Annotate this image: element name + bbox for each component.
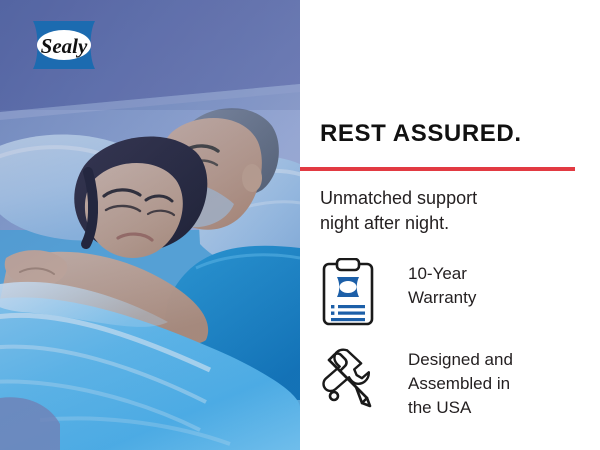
sealy-ad-banner: Sealy REST ASSURED. Unmatched support ni…	[0, 0, 600, 450]
bedroom-photo: Sealy	[0, 0, 300, 450]
feature-warranty-text: 10-Year Warranty	[408, 258, 476, 310]
feature-warranty-line-1: 10-Year	[408, 262, 476, 286]
clipboard-warranty-icon	[320, 258, 382, 328]
subcopy: Unmatched support night after night.	[320, 186, 580, 236]
red-divider-rule	[300, 167, 575, 171]
feature-usa-line-2: Assembled in	[408, 372, 513, 396]
headline: REST ASSURED.	[320, 122, 522, 146]
feature-warranty-line-2: Warranty	[408, 286, 476, 310]
feature-made-in-usa: Designed and Assembled in the USA	[320, 346, 513, 420]
feature-warranty: 10-Year Warranty	[320, 258, 476, 328]
subcopy-line-2: night after night.	[320, 211, 580, 236]
copy-panel: REST ASSURED. Unmatched support night af…	[300, 0, 600, 450]
sealy-logo: Sealy	[31, 20, 97, 70]
pencil-wrench-icon	[320, 346, 382, 412]
subcopy-line-1: Unmatched support	[320, 186, 580, 211]
feature-usa-line-1: Designed and	[408, 348, 513, 372]
feature-usa-text: Designed and Assembled in the USA	[408, 346, 513, 420]
sealy-wordmark: Sealy	[41, 34, 88, 58]
feature-usa-line-3: the USA	[408, 396, 513, 420]
